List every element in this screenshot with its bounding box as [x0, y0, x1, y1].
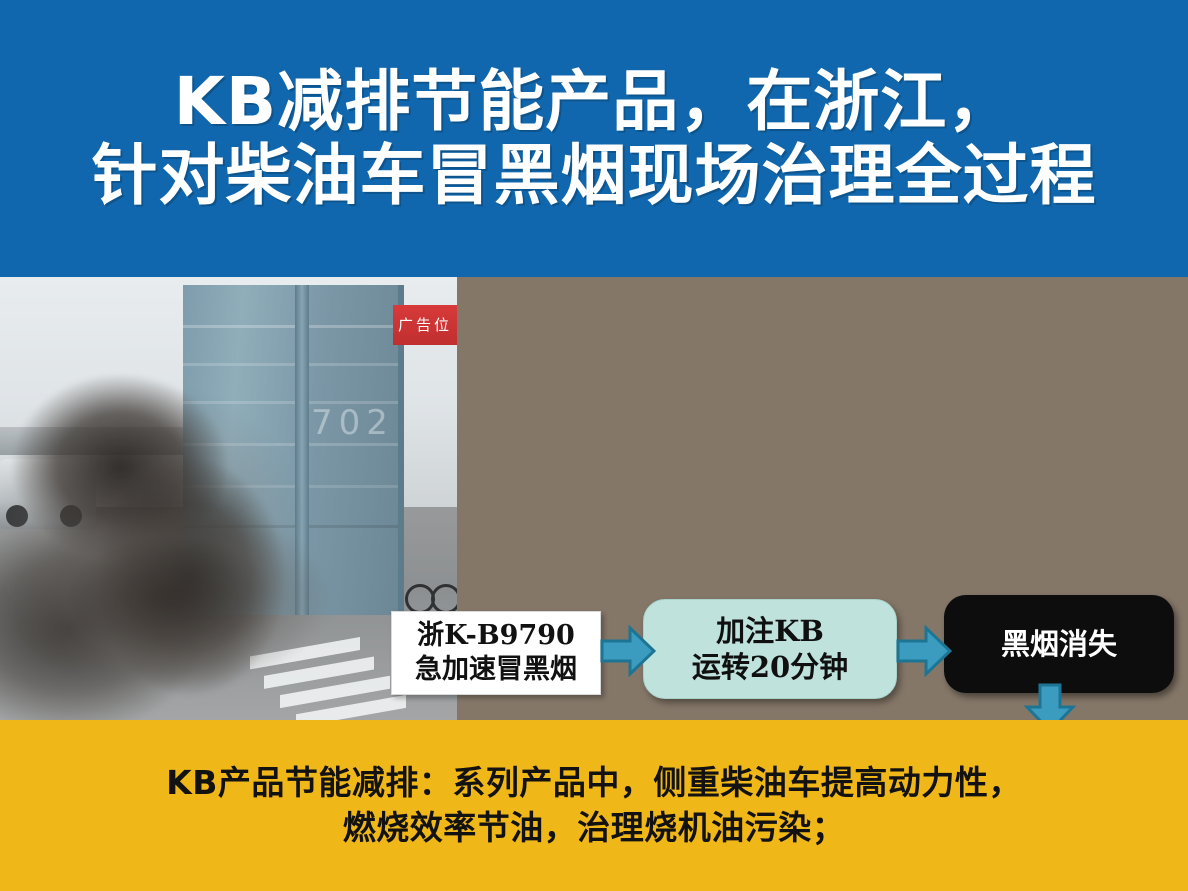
photo-bicycle: [405, 572, 457, 612]
photo-black-smoke-lower: [20, 507, 360, 720]
flow-box-smoke-gone-line-1: 黑烟消失: [1001, 626, 1117, 662]
photo-billboard: 广告位: [393, 305, 457, 345]
arrow-down-gone-to-drive: [1023, 683, 1077, 720]
arrow-right-kb-to-gone: [896, 623, 952, 679]
flow-box-add-kb[interactable]: 加注KB 运转20分钟: [643, 599, 897, 699]
flow-box-smoke-gone[interactable]: 黑烟消失: [944, 595, 1174, 693]
flow-box-add-kb-text: 加注KB 运转20分钟: [682, 613, 858, 686]
flow-box-plate[interactable]: 浙K-B9790 急加速冒黑烟: [391, 611, 601, 695]
photo-billboard-text: 广告位: [393, 305, 457, 345]
footer-line-2: 燃烧效率节油，治理烧机油污染；: [343, 806, 846, 851]
header-title-line-1: KB减排节能产品，在浙江，: [174, 65, 1014, 139]
footer-line-1: KB产品节能减排：系列产品中，侧重柴油车提高动力性，: [166, 761, 1022, 806]
flow-box-smoke-gone-text: 黑烟消失: [991, 626, 1127, 662]
slide-root: KB减排节能产品，在浙江， 针对柴油车冒黑烟现场治理全过程 702 广告位: [0, 0, 1188, 891]
content-band: 702 广告位 浙K-B9790 急加速冒黑烟 加注KB: [0, 277, 1188, 720]
flow-box-plate-text: 浙K-B9790 急加速冒黑烟: [405, 619, 587, 687]
arrow-right-plate-to-kb: [600, 623, 656, 679]
flow-box-plate-line-2: 急加速冒黑烟: [415, 653, 577, 687]
header-title-line-2: 针对柴油车冒黑烟现场治理全过程: [92, 139, 1097, 213]
slide-header: KB减排节能产品，在浙江， 针对柴油车冒黑烟现场治理全过程: [0, 0, 1188, 277]
slide-footer: KB产品节能减排：系列产品中，侧重柴油车提高动力性， 燃烧效率节油，治理烧机油污…: [0, 720, 1188, 891]
flow-box-add-kb-line-1: 加注KB: [692, 613, 848, 649]
flow-box-plate-line-1: 浙K-B9790: [415, 619, 577, 653]
truck-smoke-photo: 702 广告位: [0, 277, 457, 720]
flow-box-add-kb-line-2: 运转20分钟: [692, 649, 848, 685]
